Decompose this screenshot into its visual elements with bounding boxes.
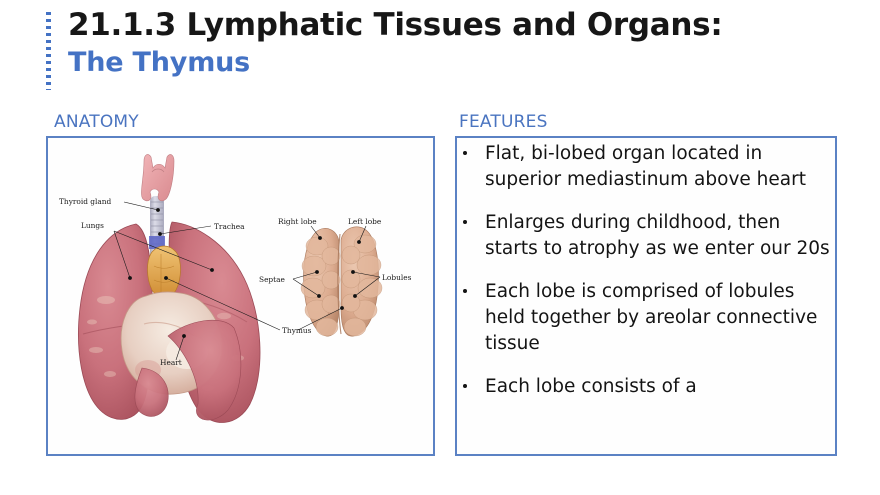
features-section-heading: FEATURES [459, 112, 548, 132]
page-subtitle: The Thymus [68, 46, 838, 80]
anatomy-section-heading: ANATOMY [54, 112, 139, 132]
features-bullet-list: Flat, bi-lobed organ located in superior… [457, 141, 847, 495]
figure-label-thymus: Thymus [282, 326, 312, 335]
figure-label-heart: Heart [160, 358, 182, 367]
thorax-illustration [78, 154, 260, 422]
thymus-detail-illustration [301, 227, 382, 336]
bullet-text: Each lobe is comprised of lobules held t… [485, 281, 817, 354]
bullet-text: Enlarges during childhood, then starts t… [485, 212, 830, 259]
list-item: Flat, bi-lobed organ located in superior… [457, 141, 837, 193]
title-text-wrapper: 21.1.3 Lymphatic Tissues and Organs: The… [68, 6, 838, 80]
bullet-text: Flat, bi-lobed organ located in superior… [485, 143, 806, 190]
title-accent-dotted-bar [46, 12, 51, 90]
anatomy-illustration: Thyroid gland Lungs Trachea Heart Thymus… [48, 138, 433, 454]
figure-label-thyroid-gland: Thyroid gland [59, 197, 112, 206]
figure-label-septae: Septae [259, 275, 285, 284]
bullet-dot-icon [463, 220, 467, 224]
figure-label-lobules: Lobules [382, 273, 412, 282]
figure-label-right-lobe: Right lobe [278, 217, 317, 226]
slide-title-block: 21.1.3 Lymphatic Tissues and Organs: The… [46, 6, 846, 98]
list-item: Each lobe is comprised of lobules held t… [457, 279, 837, 357]
anatomy-image-panel: Thyroid gland Lungs Trachea Heart Thymus… [46, 136, 435, 456]
list-item: Enlarges during childhood, then starts t… [457, 210, 837, 262]
bullet-dot-icon [463, 151, 467, 155]
thyroid-gland-shape [141, 154, 174, 200]
figure-label-lungs: Lungs [81, 221, 104, 230]
bullet-dot-icon [463, 289, 467, 293]
list-item: Each lobe consists of a [457, 374, 837, 400]
figure-label-trachea: Trachea [214, 222, 245, 231]
bullet-text: Each lobe consists of a [485, 376, 697, 397]
thymus-gland-shape [148, 246, 181, 298]
bullet-dot-icon [463, 384, 467, 388]
page-title: 21.1.3 Lymphatic Tissues and Organs: [68, 6, 838, 44]
figure-label-left-lobe: Left lobe [348, 217, 381, 226]
